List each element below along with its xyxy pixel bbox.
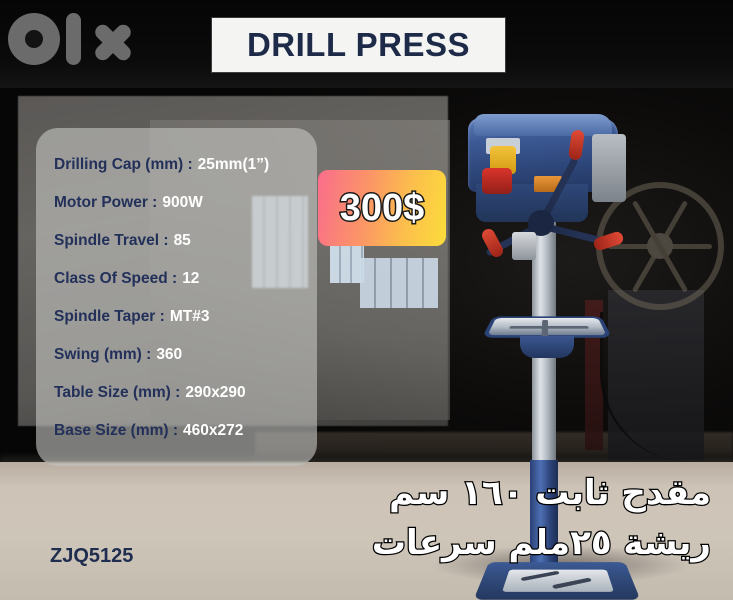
spec-row: Base Size (mm) : 460x272 — [36, 412, 317, 450]
emergency-stop-button — [482, 168, 512, 194]
spec-value: 360 — [156, 346, 182, 364]
spec-value: 460x272 — [183, 422, 243, 440]
arabic-caption-line-2: ريشة ٢٥ملم سرعات — [291, 526, 711, 562]
title-banner: DRILL PRESS — [212, 18, 505, 72]
spec-label: Motor Power : — [54, 194, 157, 212]
drill-head-cover — [474, 114, 612, 136]
spec-value: 25mm(1”) — [198, 156, 270, 174]
spec-label: Drilling Cap (mm) : — [54, 156, 193, 174]
model-code: ZJQ5125 — [50, 545, 133, 568]
spec-row: Spindle Taper : MT#3 — [36, 298, 317, 336]
drill-chuck — [512, 232, 536, 260]
olx-letter-l-icon — [66, 13, 81, 65]
handle-grip-2 — [592, 230, 625, 252]
arabic-caption-line-1: مقدح ثابت ١٦٠ سم — [291, 476, 711, 512]
spec-label: Table Size (mm) : — [54, 384, 180, 402]
drill-motor — [592, 134, 626, 202]
drill-table — [482, 316, 612, 337]
spec-label: Swing (mm) : — [54, 346, 151, 364]
spec-label: Spindle Travel : — [54, 232, 169, 250]
specifications-panel: Drilling Cap (mm) : 25mm(1”) Motor Power… — [36, 128, 317, 466]
spec-row: Spindle Travel : 85 — [36, 222, 317, 260]
spec-row: Class Of Speed : 12 — [36, 260, 317, 298]
spec-label: Base Size (mm) : — [54, 422, 178, 440]
listing-image: DRILL PRESS Drilling Cap (mm) : 25mm(1”)… — [0, 0, 733, 600]
spec-row: Table Size (mm) : 290x290 — [36, 374, 317, 412]
olx-letter-o-icon — [8, 13, 60, 65]
table-collar — [520, 336, 574, 358]
spec-value: 85 — [174, 232, 191, 250]
price-badge: 300$ — [318, 170, 446, 246]
spec-value: 900W — [162, 194, 203, 212]
spec-row: Drilling Cap (mm) : 25mm(1”) — [36, 146, 317, 184]
spec-value: MT#3 — [170, 308, 210, 326]
drill-base-plate — [502, 570, 614, 592]
spec-row: Swing (mm) : 360 — [36, 336, 317, 374]
price-value: 300$ — [340, 187, 425, 230]
spec-row: Motor Power : 900W — [36, 184, 317, 222]
olx-logo — [8, 6, 160, 72]
spec-value: 12 — [182, 270, 199, 288]
window-blinds-3 — [360, 258, 438, 308]
spec-label: Spindle Taper : — [54, 308, 165, 326]
page-title: DRILL PRESS — [247, 26, 470, 64]
olx-letter-x-icon — [89, 19, 135, 59]
spec-value: 290x290 — [185, 384, 245, 402]
spec-label: Class Of Speed : — [54, 270, 177, 288]
